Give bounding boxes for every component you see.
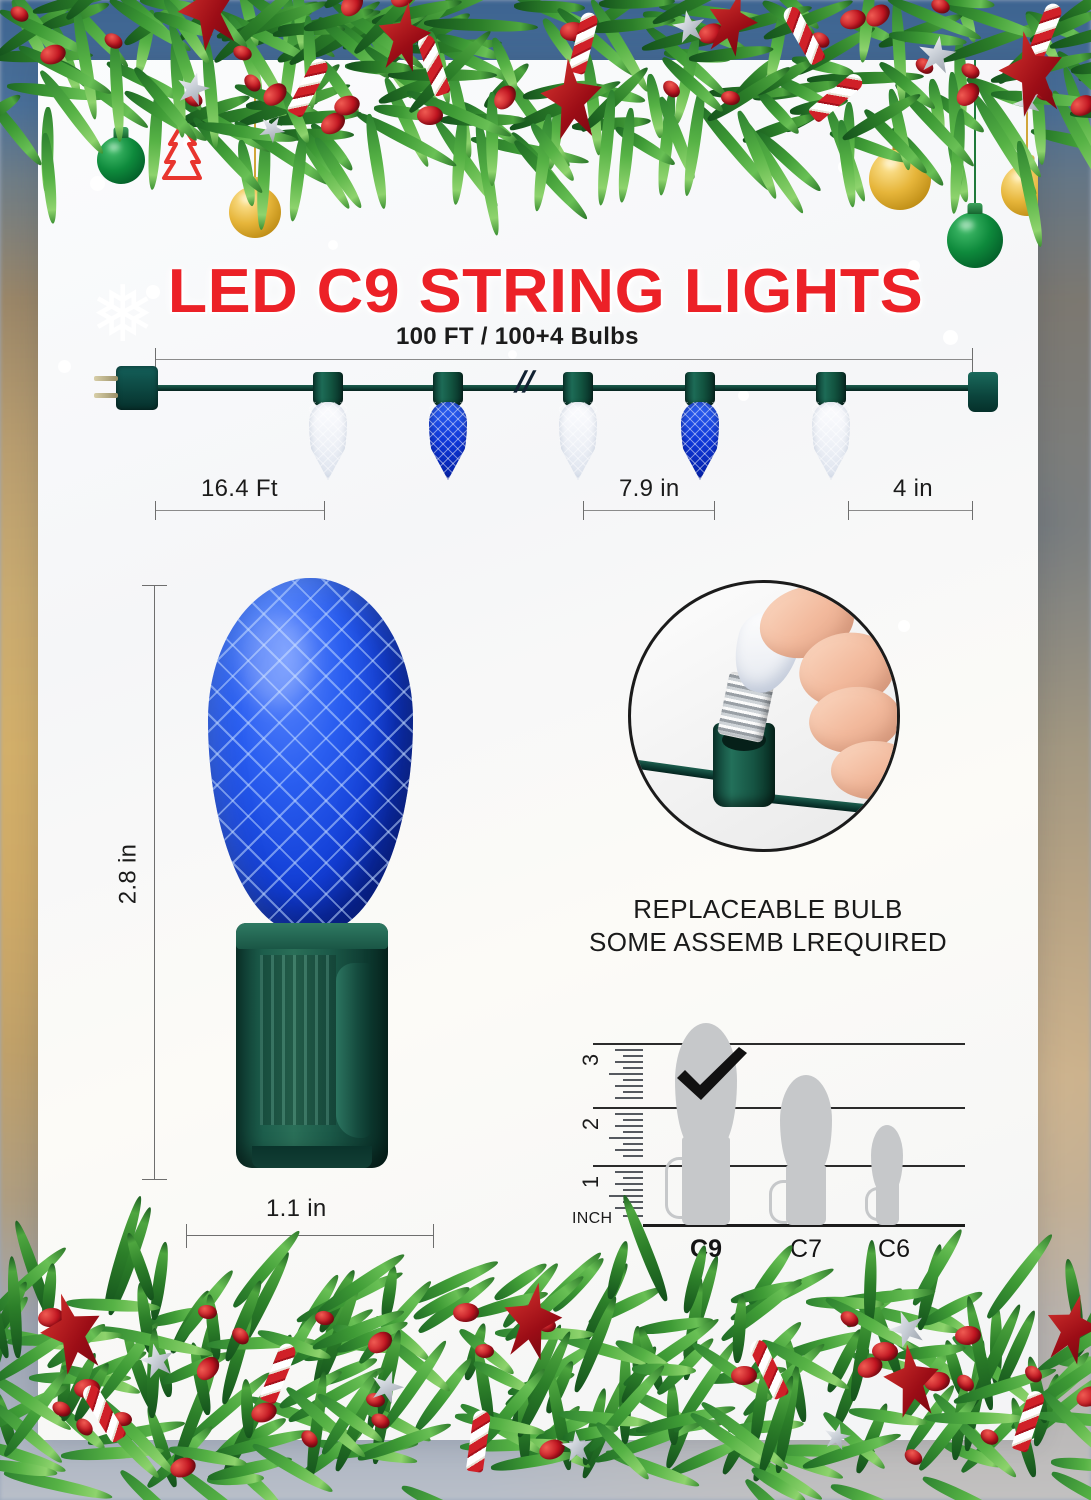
base-clip xyxy=(336,963,372,1138)
gridline-3in xyxy=(593,1043,965,1045)
ornament-cap xyxy=(1020,155,1035,166)
ruler-tick xyxy=(623,1131,643,1133)
hero-width-dimension-line xyxy=(186,1235,434,1236)
ruler-tick xyxy=(609,1137,643,1139)
hero-height-tick-top xyxy=(142,585,167,586)
ruler-tick xyxy=(615,1113,643,1115)
chart-label-c6: C6 xyxy=(857,1235,931,1264)
base-lip xyxy=(236,923,388,949)
hero-width-tick-right xyxy=(433,1224,434,1248)
ornament-cap xyxy=(248,177,263,188)
replaceable-bulb-inset xyxy=(628,580,900,852)
ruler-tick xyxy=(615,1097,643,1099)
hero-bulb-base xyxy=(236,923,388,1168)
bulb-silhouette-c7-clip xyxy=(769,1180,787,1224)
lead-dimension-tick-right xyxy=(324,501,325,520)
hero-height-label: 2.8 in xyxy=(114,844,142,905)
gridline-2in xyxy=(593,1107,965,1109)
tail-dimension-tick-right xyxy=(972,501,973,520)
ruler-tick xyxy=(615,1061,643,1063)
bulb-silhouette-c6-clip xyxy=(865,1187,878,1221)
bulb-glass-blue xyxy=(429,402,467,480)
power-plug xyxy=(116,366,158,410)
ruler-tick xyxy=(623,1119,643,1121)
bulb-glass-blue xyxy=(681,402,719,480)
total-dimension-line xyxy=(155,359,973,360)
total-dimension-tick-right xyxy=(972,348,973,372)
spacing-dimension-tick-left xyxy=(583,501,584,520)
ruler-tick xyxy=(623,1079,643,1081)
ruler-tick xyxy=(623,1055,643,1057)
snow-dot xyxy=(838,160,852,174)
ornament-ball xyxy=(869,148,931,210)
ornament-thread xyxy=(120,60,122,136)
hero-bulb-highlight xyxy=(241,614,311,706)
ruler-mark-3: 3 xyxy=(578,1054,604,1066)
total-length-label: 100 FT / 100+4 Bulbs xyxy=(396,323,639,351)
page-title: LED C9 STRING LIGHTS xyxy=(38,256,1038,327)
ornament-ball xyxy=(229,186,281,238)
lead-dimension-tick-left xyxy=(155,501,156,520)
bulb-facets xyxy=(681,402,719,480)
hero-bulb-glass xyxy=(208,578,413,933)
selected-check-icon xyxy=(673,1045,751,1107)
ornament-cap xyxy=(114,127,129,138)
hero-width-label: 1.1 in xyxy=(266,1195,327,1223)
break-symbol: // xyxy=(510,366,538,400)
tail-dimension-line xyxy=(848,510,973,511)
plug-prong xyxy=(94,393,118,398)
tail-length-label: 4 in xyxy=(893,475,933,503)
ornament-cap xyxy=(893,139,908,150)
bulb-silhouette-c7-base xyxy=(786,1165,826,1225)
ruler-tick xyxy=(615,1149,643,1151)
ornament-thread xyxy=(1026,60,1028,164)
lead-dimension-line xyxy=(155,510,325,511)
inset-caption-line2: SOME ASSEMB LREQUIRED xyxy=(558,926,978,959)
snow-dot xyxy=(328,240,338,250)
ruler-tick xyxy=(609,1073,643,1075)
bulb-facets xyxy=(559,402,597,480)
ruler-tick xyxy=(615,1125,643,1127)
bulb-socket xyxy=(313,372,343,406)
ruler-unit-label: INCH xyxy=(572,1210,612,1228)
bulb-socket xyxy=(816,372,846,406)
ruler-tick xyxy=(623,1201,643,1203)
hero-bulb xyxy=(208,578,423,1178)
ruler-tick xyxy=(623,1177,643,1179)
ornament-thread xyxy=(254,60,256,186)
ruler-mark-1: 1 xyxy=(578,1176,604,1188)
base-foot xyxy=(252,1146,372,1168)
bulb-glass-white xyxy=(812,402,850,480)
bulb-glass-white xyxy=(559,402,597,480)
ruler-tick xyxy=(615,1171,643,1173)
bulb-silhouette-c9-base xyxy=(682,1137,730,1225)
hero-bulb-facets xyxy=(208,578,413,933)
spacing-dimension-line xyxy=(583,510,715,511)
bulb-spacing-label: 7.9 in xyxy=(619,475,680,503)
snow-dot xyxy=(943,330,958,345)
chart-label-c9: C9 xyxy=(669,1235,743,1264)
snow-dot xyxy=(296,120,308,132)
snow-dot xyxy=(738,390,749,401)
spacing-dimension-tick-right xyxy=(714,501,715,520)
bulb-socket xyxy=(685,372,715,406)
ornament-ball xyxy=(1001,164,1038,216)
bulb-facets xyxy=(309,402,347,480)
base-ribs xyxy=(260,955,336,1125)
tail-dimension-tick-left xyxy=(848,501,849,520)
hero-width-tick-left xyxy=(186,1224,187,1248)
ruler-tick xyxy=(615,1207,643,1209)
snow-dot xyxy=(90,176,105,191)
product-card: ❅ xyxy=(38,60,1038,1440)
ruler-mark-2: 2 xyxy=(578,1118,604,1130)
lead-length-label: 16.4 Ft xyxy=(201,475,278,503)
snow-dot xyxy=(898,620,910,632)
bulb-facets xyxy=(429,402,467,480)
ruler-tick xyxy=(615,1085,643,1087)
snow-dot xyxy=(658,120,667,129)
size-comparison-chart: 3 2 1 INCH xyxy=(565,1025,965,1275)
gridline-1in xyxy=(593,1165,965,1167)
ornament-thread xyxy=(899,60,901,148)
string-end-connector xyxy=(968,372,998,412)
tree-icon xyxy=(156,120,208,182)
chart-label-c7: C7 xyxy=(769,1235,843,1264)
inset-caption-line1: REPLACEABLE BULB xyxy=(558,893,978,926)
ornament-cap xyxy=(968,203,983,214)
ruler-tick xyxy=(623,1091,643,1093)
ruler-tick xyxy=(609,1195,643,1197)
ruler-tick xyxy=(623,1189,643,1191)
bulb-silhouette-c6-base xyxy=(876,1180,899,1225)
plug-prong xyxy=(94,376,118,381)
ornament-thread xyxy=(974,60,976,212)
ornament-thread xyxy=(181,60,183,128)
bulb-glass-white xyxy=(309,402,347,480)
ornament-ball xyxy=(97,136,145,184)
ruler-tick xyxy=(623,1155,643,1157)
ruler-tick xyxy=(623,1067,643,1069)
snow-dot xyxy=(58,360,71,373)
ruler-tick xyxy=(623,1143,643,1145)
ruler-tick xyxy=(615,1049,643,1051)
bulb-facets xyxy=(812,402,850,480)
ruler-tick xyxy=(615,1183,643,1185)
ruler-tick xyxy=(623,1215,643,1217)
bulb-socket xyxy=(433,372,463,406)
snow-dot xyxy=(508,350,517,359)
infographic-root: ❅ xyxy=(0,0,1091,1500)
bulb-silhouette-c9-clip xyxy=(665,1157,685,1219)
bulb-socket xyxy=(563,372,593,406)
bulb-silhouette-c7 xyxy=(780,1075,832,1173)
hero-height-dimension-line xyxy=(154,585,155,1180)
hero-height-tick-bottom xyxy=(142,1179,167,1180)
